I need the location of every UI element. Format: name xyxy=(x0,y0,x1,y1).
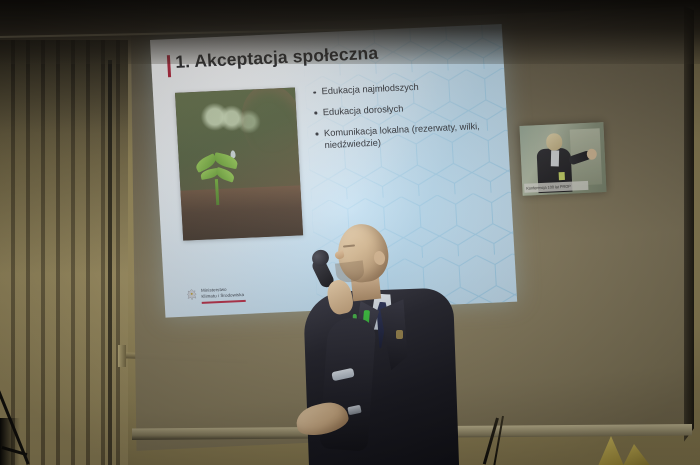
video-thumbnail-speaker-shirt xyxy=(551,150,559,166)
wall-rail-post xyxy=(118,345,126,367)
video-thumbnail-speaker-badge xyxy=(559,172,565,180)
window-gap xyxy=(108,60,112,465)
video-thumbnail-caption-text: Konferencja 100 lat PROP xyxy=(526,184,571,191)
bullet-text: Edukacja najmłodszych xyxy=(321,82,419,98)
presenter-lapel-pin xyxy=(396,330,403,339)
photo-seedling xyxy=(194,148,241,206)
list-item: Komunikacja lokalna (rezerwaty, wilki, n… xyxy=(315,120,494,152)
slide-bullet-list: Edukacja najmłodszych Edukacja dorosłych… xyxy=(313,79,495,162)
video-thumbnail-speaker-head xyxy=(546,133,563,151)
ceiling-shadow xyxy=(0,0,700,64)
bullet-dot-icon xyxy=(314,112,317,115)
bullet-dot-icon xyxy=(315,133,318,136)
slide-photo xyxy=(175,87,303,240)
presenter xyxy=(290,218,460,465)
ministry-logo-rule xyxy=(202,300,246,304)
seedling-stem xyxy=(215,179,219,205)
window-post xyxy=(118,24,127,465)
bullet-dot-icon xyxy=(313,91,316,94)
projection-screen-edge xyxy=(684,6,694,446)
video-thumbnail: Konferencja 100 lat PROP xyxy=(519,122,606,196)
foreground-shadow xyxy=(0,418,20,465)
ministry-logo: Ministerstwo Klimatu i Środowiska xyxy=(186,286,246,304)
list-item: Edukacja dorosłych xyxy=(314,99,492,119)
ministry-name-line2: Klimatu i Środowiska xyxy=(201,292,245,299)
bullet-text: Komunikacja lokalna (rezerwaty, wilki, n… xyxy=(324,120,495,151)
presentation-photo-scene: 1. Akceptacja społeczna Edukacja najmłod… xyxy=(0,0,700,465)
ministry-logo-text: Ministerstwo Klimatu i Środowiska xyxy=(201,286,246,304)
bullet-text: Edukacja dorosłych xyxy=(323,103,404,119)
polish-eagle-emblem-icon xyxy=(186,288,198,302)
list-item: Edukacja najmłodszych xyxy=(313,79,491,99)
